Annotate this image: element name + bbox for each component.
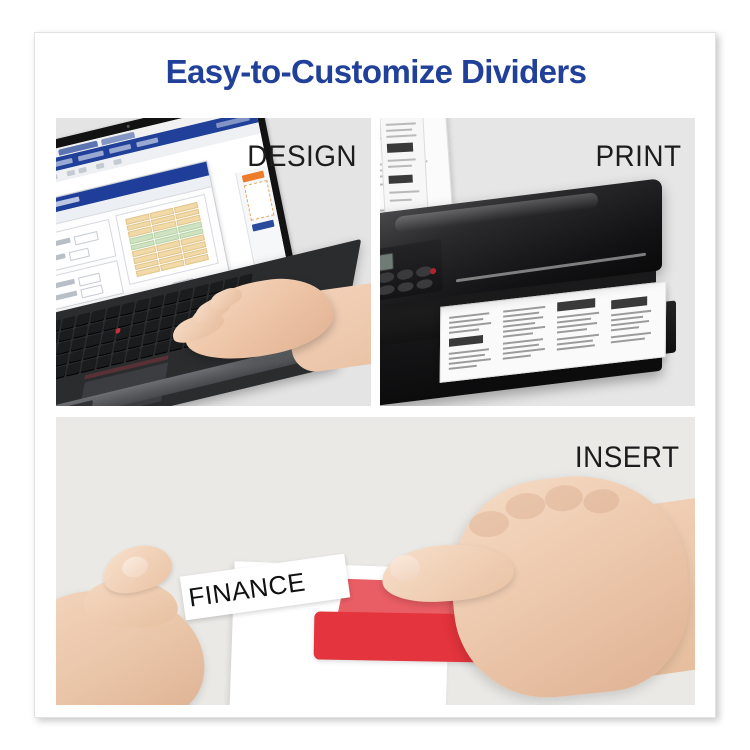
product-infographic: Easy-to-Customize Dividers [0,0,750,750]
hand-on-trackpad [159,264,371,406]
sidebar-button[interactable] [252,220,275,232]
webcam-icon [126,125,130,129]
dialog-form [56,217,123,305]
panel-insert: FINANCE [56,417,695,705]
panel-label-insert: INSERT [574,441,679,475]
panel-label-design: DESIGN [247,140,357,174]
panel-label-print: PRINT [595,140,681,174]
right-hand [374,457,695,705]
infographic-card: Easy-to-Customize Dividers [34,32,716,718]
left-hand [56,537,241,705]
power-button-icon[interactable] [430,268,436,275]
page-title: Easy-to-Customize Dividers [35,53,716,91]
input-paper-sheet-second [380,118,429,221]
panel-print: PRINT [380,118,695,406]
right-thumbnail [390,555,420,581]
panel-design: DESIGN [56,118,371,406]
template-thumbnail[interactable] [244,180,275,221]
